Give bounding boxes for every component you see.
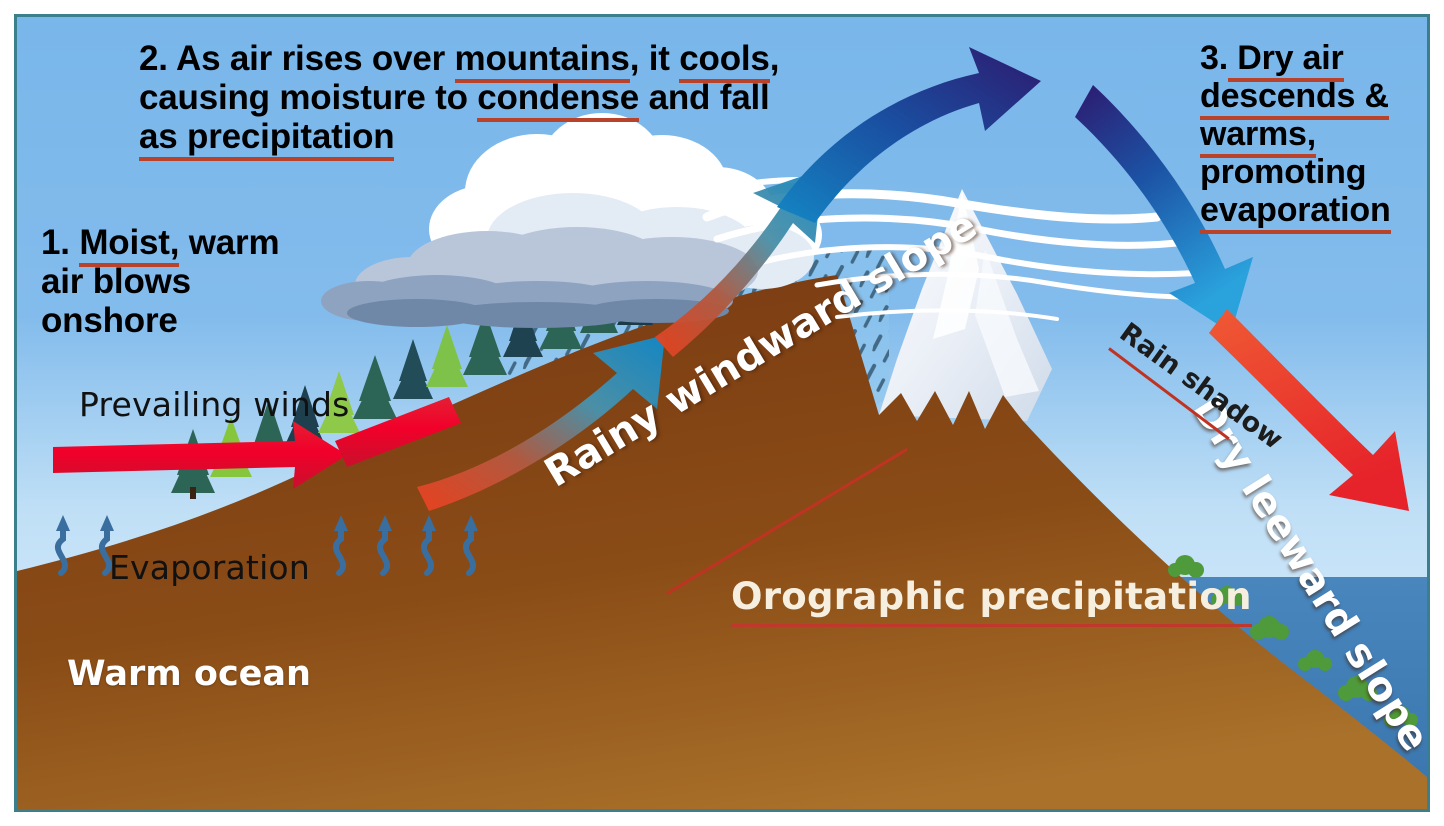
step3-underline-evaporation: evaporation: [1200, 191, 1391, 234]
step2-underline-precipitation: as precipitation: [139, 117, 394, 161]
step2-part3: ,: [770, 39, 780, 78]
callout-step-3: 3. Dry air descends & warms, promoting e…: [1200, 39, 1427, 229]
orographic-underline: [731, 624, 1252, 627]
step2-part2: , it: [630, 39, 680, 78]
step1-line1-rest: warm: [179, 223, 279, 262]
callout-step-1: 1. Moist, warm air blows onshore: [41, 223, 341, 341]
step3-underline-warms: warms,: [1200, 115, 1316, 158]
step3-underline-descends: descends &: [1200, 77, 1389, 120]
step2-underline-mountains: mountains: [455, 39, 630, 83]
step1-number: 1.: [41, 223, 70, 262]
step3-underline-dryair: Dry air: [1228, 39, 1344, 82]
step3-number: 3.: [1200, 39, 1228, 77]
label-prevailing-winds: Prevailing winds: [79, 385, 350, 424]
label-orographic-precipitation: Orographic precipitation: [731, 575, 1252, 627]
step2-underline-condense: condense: [477, 78, 639, 122]
step2-number: 2.: [139, 39, 168, 78]
step1-underline-moist: Moist,: [79, 223, 179, 267]
diagram-picture: 2. As air rises over mountains, it cools…: [17, 17, 1427, 809]
diagram-canvas: 2. As air rises over mountains, it cools…: [0, 0, 1444, 826]
label-evaporation: Evaporation: [109, 548, 310, 587]
diagram-frame: 2. As air rises over mountains, it cools…: [14, 14, 1430, 812]
step3-promoting: promoting: [1200, 153, 1366, 191]
step2-line2a: causing moisture to: [139, 78, 477, 117]
label-warm-ocean: Warm ocean: [67, 654, 311, 694]
step2-underline-cools: cools: [679, 39, 769, 83]
step1-line3: onshore: [41, 301, 178, 340]
orographic-text: Orographic precipitation: [731, 575, 1252, 618]
step2-part1: As air rises over: [168, 39, 455, 78]
callout-step-2: 2. As air rises over mountains, it cools…: [139, 39, 929, 157]
step2-line2b: and fall: [639, 78, 769, 117]
step1-line2: air blows: [41, 262, 191, 301]
